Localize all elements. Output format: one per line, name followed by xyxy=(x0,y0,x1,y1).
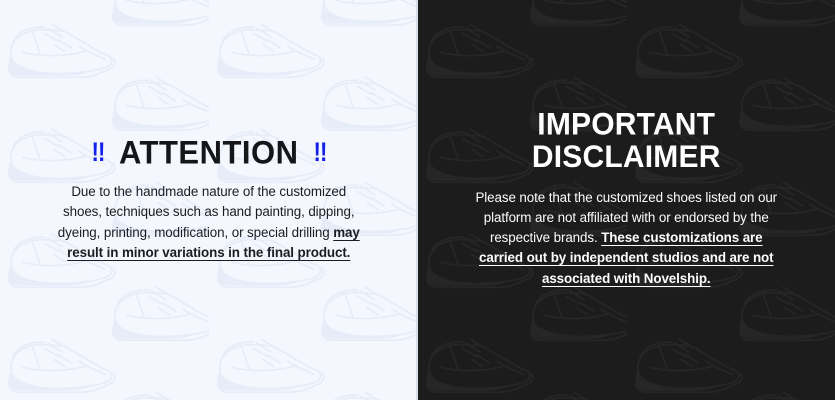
disclaimer-heading: IMPORTANTDISCLAIMER xyxy=(532,110,721,175)
attention-disclaimer-banner: !! ATTENTION !! Due to the handmade natu… xyxy=(0,0,835,400)
disclaimer-heading-line2: DISCLAIMER xyxy=(532,142,721,174)
attention-panel: !! ATTENTION !! Due to the handmade natu… xyxy=(0,0,418,400)
attention-body-text: Due to the handmade nature of the custom… xyxy=(53,182,365,264)
disclaimer-heading-line1: IMPORTANT xyxy=(537,108,715,143)
attention-heading: !! ATTENTION !! xyxy=(90,137,328,168)
panel-divider xyxy=(416,0,418,400)
exclamation-left-icon: !! xyxy=(91,139,104,166)
attention-panel-content: !! ATTENTION !! Due to the handmade natu… xyxy=(0,0,418,400)
disclaimer-body-text: Please note that the customized shoes li… xyxy=(466,188,786,289)
attention-body-normal: Due to the handmade nature of the custom… xyxy=(58,184,355,240)
disclaimer-panel-content: IMPORTANTDISCLAIMER Please note that the… xyxy=(418,0,835,400)
disclaimer-panel: IMPORTANTDISCLAIMER Please note that the… xyxy=(418,0,835,400)
attention-heading-text: ATTENTION xyxy=(119,136,299,168)
exclamation-right-icon: !! xyxy=(313,139,326,166)
